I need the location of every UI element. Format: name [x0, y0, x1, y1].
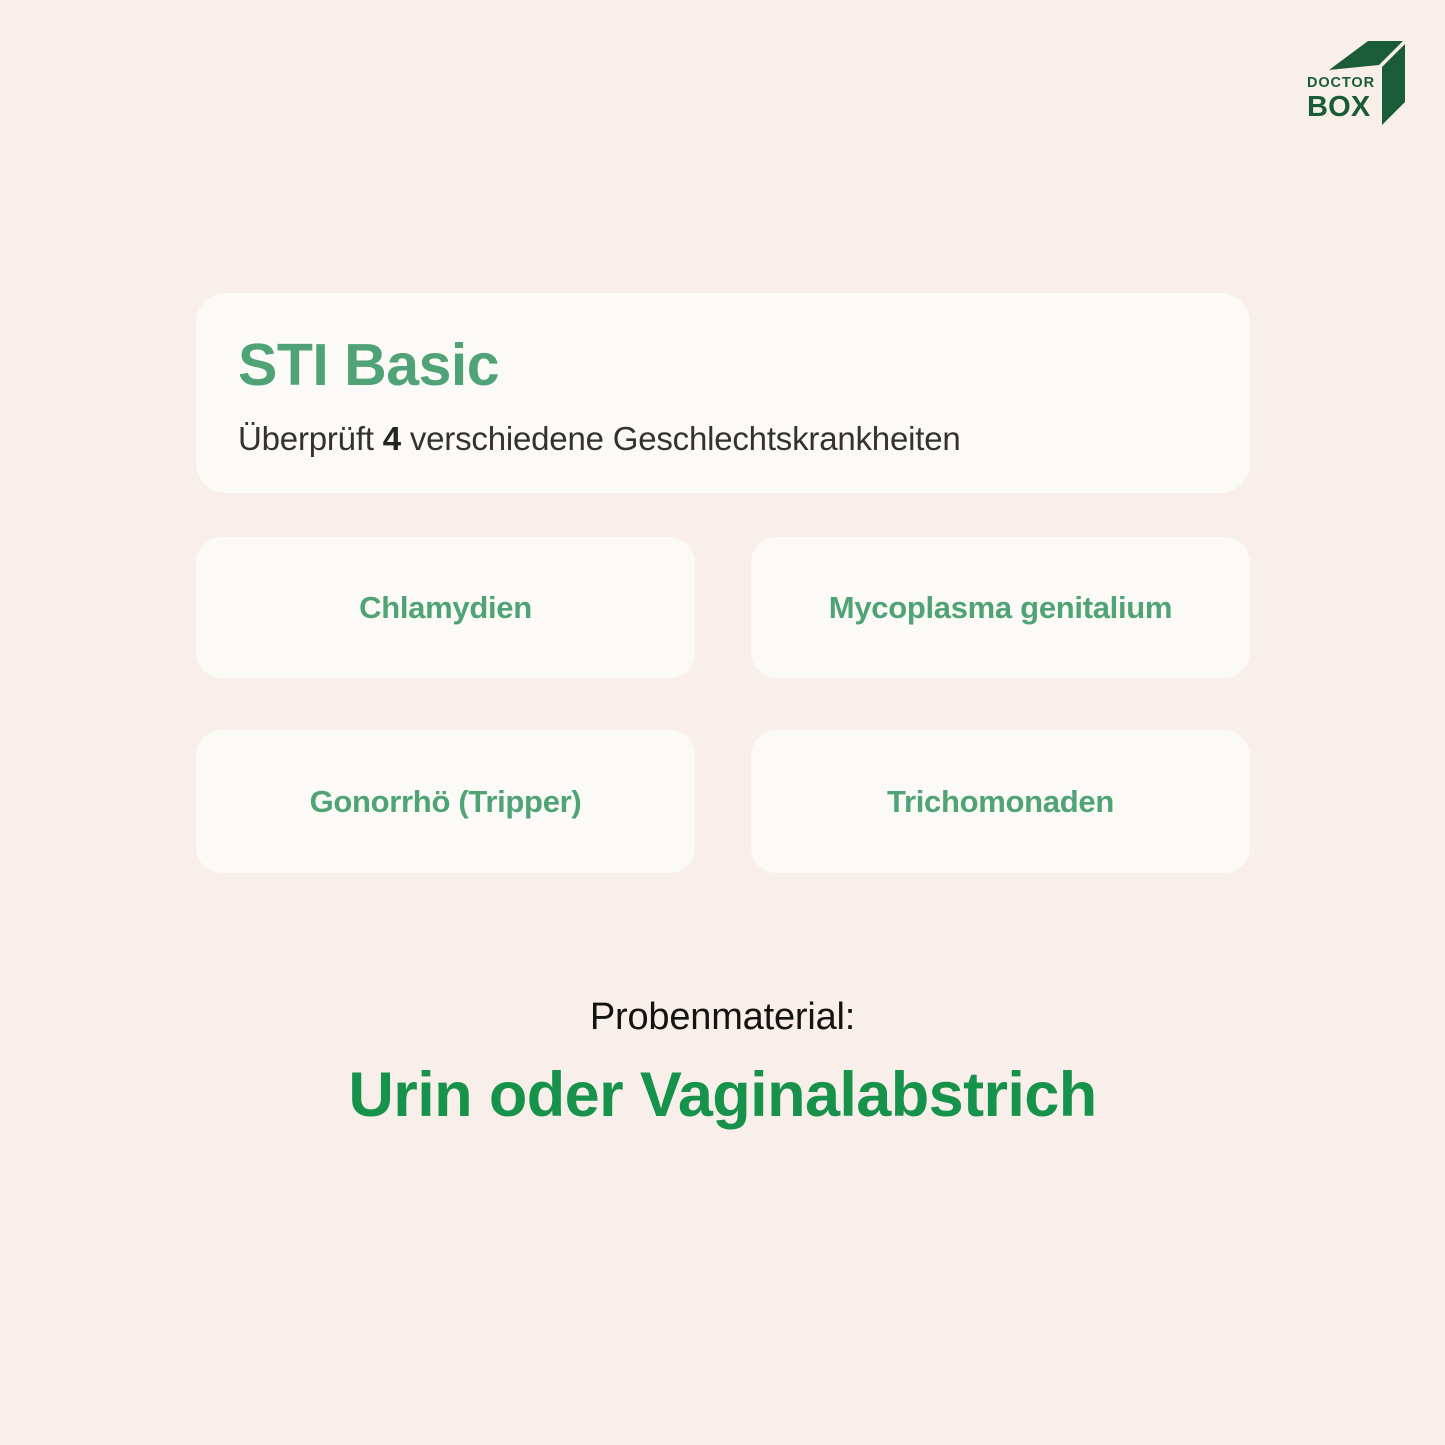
test-card-trichomonaden: Trichomonaden	[751, 730, 1250, 873]
sample-material-value: Urin oder Vaginalabstrich	[0, 1059, 1445, 1131]
test-count: 4	[383, 420, 401, 457]
test-card-mycoplasma-genitalium: Mycoplasma genitalium	[751, 537, 1250, 678]
subtitle-prefix: Überprüft	[238, 420, 383, 457]
product-header-card: STI Basic Überprüft 4 verschiedene Gesch…	[196, 293, 1250, 493]
brand-wordmark: DOCTOR BOX	[1307, 76, 1375, 122]
subtitle-suffix: verschiedene Geschlechtskrankheiten	[401, 420, 961, 457]
test-card-label: Mycoplasma genitalium	[829, 590, 1172, 626]
page-title: STI Basic	[238, 335, 1202, 397]
brand-name-line2: BOX	[1307, 93, 1375, 122]
sample-material-label: Probenmaterial:	[0, 995, 1445, 1041]
test-card-label: Chlamydien	[359, 590, 532, 626]
brand-name-line1: DOCTOR	[1307, 76, 1375, 91]
page-subtitle: Überprüft 4 verschiedene Geschlechtskran…	[238, 419, 1202, 459]
test-card-label: Trichomonaden	[887, 784, 1114, 820]
tested-diseases-grid: Chlamydien Mycoplasma genitalium Gonorrh…	[196, 537, 1250, 873]
sample-material-block: Probenmaterial: Urin oder Vaginalabstric…	[0, 995, 1445, 1131]
test-card-label: Gonorrhö (Tripper)	[310, 784, 582, 820]
brand-logo: DOCTOR BOX	[1305, 38, 1405, 126]
test-card-chlamydien: Chlamydien	[196, 537, 695, 678]
test-card-gonorrhoe: Gonorrhö (Tripper)	[196, 730, 695, 873]
